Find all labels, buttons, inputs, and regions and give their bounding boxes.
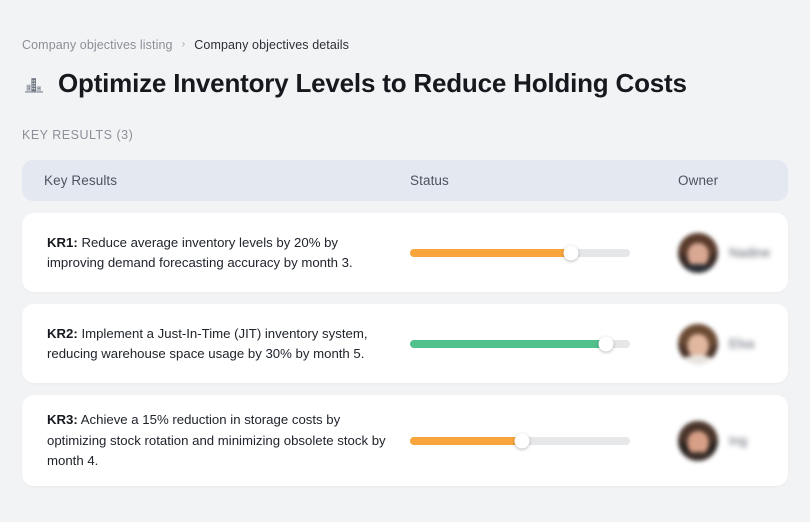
page-header: Optimize Inventory Levels to Reduce Hold… — [22, 69, 788, 99]
key-result-body: Implement a Just-In-Time (JIT) inventory… — [47, 326, 367, 361]
progress-thumb[interactable] — [598, 336, 613, 351]
avatar — [678, 233, 718, 273]
key-result-description: KR1: Reduce average inventory levels by … — [22, 233, 410, 274]
progress-bar[interactable] — [410, 249, 630, 257]
status-cell — [410, 437, 668, 445]
key-results-table: Key Results Status Owner KR1: Reduce ave… — [22, 160, 788, 486]
table-row[interactable]: KR1: Reduce average inventory levels by … — [22, 213, 788, 292]
owner-cell: Nadine — [668, 233, 788, 273]
breadcrumb-current-details: Company objectives details — [194, 39, 349, 52]
owner-name: Elsa — [729, 336, 754, 351]
status-cell — [410, 340, 668, 348]
key-result-description: KR2: Implement a Just-In-Time (JIT) inve… — [22, 324, 410, 365]
key-result-tag: KR1: — [47, 235, 78, 250]
owner-cell: Ing — [668, 421, 788, 461]
objective-details-page: Company objectives listing › Company obj… — [0, 0, 810, 522]
progress-fill — [410, 437, 522, 445]
table-row[interactable]: KR2: Implement a Just-In-Time (JIT) inve… — [22, 304, 788, 383]
breadcrumb: Company objectives listing › Company obj… — [22, 0, 788, 52]
chevron-right-icon: › — [182, 39, 186, 50]
building-icon — [22, 72, 46, 96]
progress-thumb[interactable] — [563, 245, 578, 260]
column-header-owner: Owner — [668, 173, 788, 188]
key-result-tag: KR2: — [47, 326, 78, 341]
owner-cell: Elsa — [668, 324, 788, 364]
column-header-status: Status — [410, 173, 668, 188]
breadcrumb-link-listing[interactable]: Company objectives listing — [22, 39, 173, 52]
owner-name: Ing — [729, 433, 747, 448]
owner-name: Nadine — [729, 245, 770, 260]
avatar — [678, 421, 718, 461]
key-result-body: Achieve a 15% reduction in storage costs… — [47, 412, 386, 468]
progress-bar[interactable] — [410, 340, 630, 348]
key-result-tag: KR3: — [47, 412, 78, 427]
status-cell — [410, 249, 668, 257]
key-result-description: KR3: Achieve a 15% reduction in storage … — [22, 410, 410, 471]
table-row[interactable]: KR3: Achieve a 15% reduction in storage … — [22, 395, 788, 486]
key-result-body: Reduce average inventory levels by 20% b… — [47, 235, 353, 270]
page-title: Optimize Inventory Levels to Reduce Hold… — [58, 69, 687, 99]
progress-thumb[interactable] — [515, 433, 530, 448]
progress-fill — [410, 249, 571, 257]
key-results-section-label: KEY RESULTS (3) — [22, 128, 788, 142]
column-header-key-results: Key Results — [22, 173, 410, 188]
avatar — [678, 324, 718, 364]
progress-fill — [410, 340, 606, 348]
progress-bar[interactable] — [410, 437, 630, 445]
table-header-row: Key Results Status Owner — [22, 160, 788, 201]
